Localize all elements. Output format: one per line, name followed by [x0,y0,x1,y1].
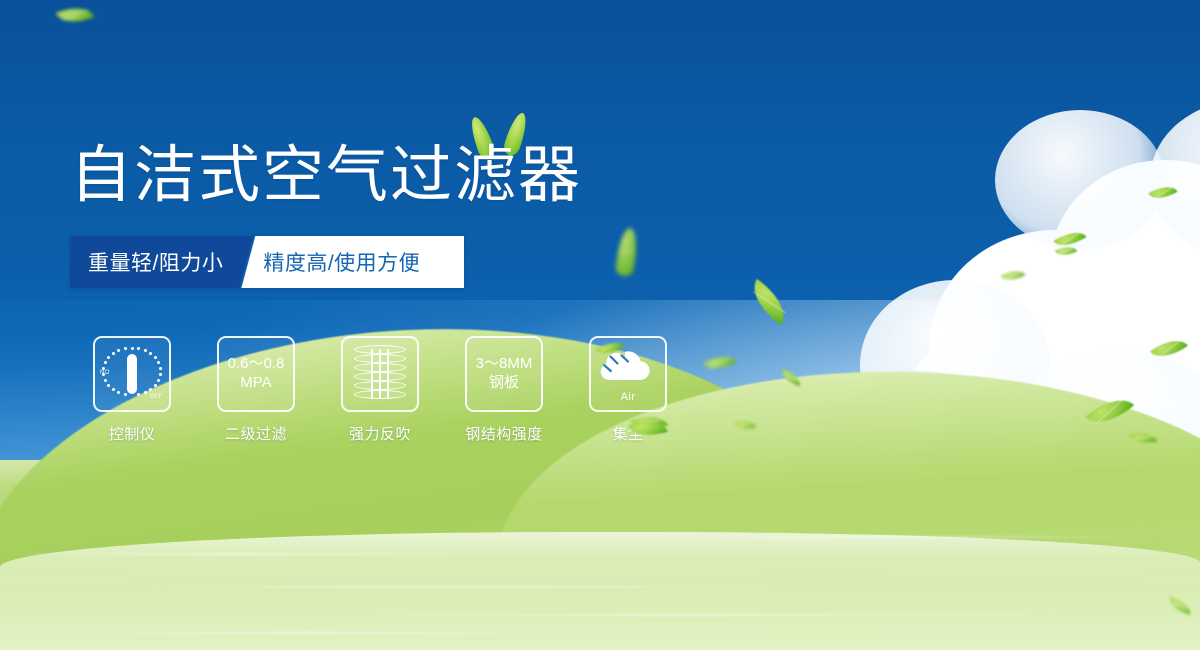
feature-label: 钢结构强度 [465,423,543,444]
air-cloud-icon: Air [597,346,659,402]
feature-icon-box: 3〜8MM 钢板 [465,336,543,412]
feature-icon-box: NO OFF [93,336,171,412]
grass-streak [30,632,630,634]
feature-icon-box [341,336,419,412]
feature-label: 二级过滤 [225,423,287,444]
feature-item-pulse-jet[interactable]: 强力反吹 [318,336,442,444]
pressure-unit-value: MPA [228,374,285,393]
air-label: Air [597,391,659,403]
feature-list: NO OFF 控制仪 0.6〜0.8 MPA 二级过滤 [70,336,690,444]
feature-label: 控制仪 [109,423,156,444]
pressure-text-icon: 0.6〜0.8 MPA [228,355,285,393]
feature-item-dust-collection[interactable]: Air 集尘 [566,336,690,444]
feature-item-two-stage-filter[interactable]: 0.6〜0.8 MPA 二级过滤 [194,336,318,444]
subtitle-left-segment: 重量轻/阻力小 [70,236,253,288]
grass-streak [340,614,1100,616]
feature-icon-box: 0.6〜0.8 MPA [217,336,295,412]
steel-plate-label: 钢板 [476,374,533,393]
gauge-dial-icon: NO OFF [101,345,163,403]
filter-stack-icon [354,345,406,403]
subtitle-right-segment: 精度高/使用方便 [241,236,464,288]
gauge-label-off: OFF [150,394,163,400]
feature-item-steel-strength[interactable]: 3〜8MM 钢板 钢结构强度 [442,336,566,444]
gauge-needle-icon [127,354,137,394]
steel-plate-text-icon: 3〜8MM 钢板 [476,355,533,393]
product-banner: 自洁式空气过滤器 重量轻/阻力小 精度高/使用方便 [0,0,1200,650]
subtitle-bar: 重量轻/阻力小 精度高/使用方便 [70,236,464,288]
steel-thickness-value: 3〜8MM [476,355,533,372]
grass-streak [120,586,820,588]
page-title: 自洁式空气过滤器 [70,143,582,210]
feature-item-control-panel[interactable]: NO OFF 控制仪 [70,336,194,444]
grass-streak [640,536,1160,538]
grass-streak [0,553,520,555]
gauge-label-on: NO [100,370,110,376]
pressure-range-value: 0.6〜0.8 [228,355,285,372]
feature-label: 强力反吹 [349,423,411,444]
feature-icon-box: Air [589,336,667,412]
